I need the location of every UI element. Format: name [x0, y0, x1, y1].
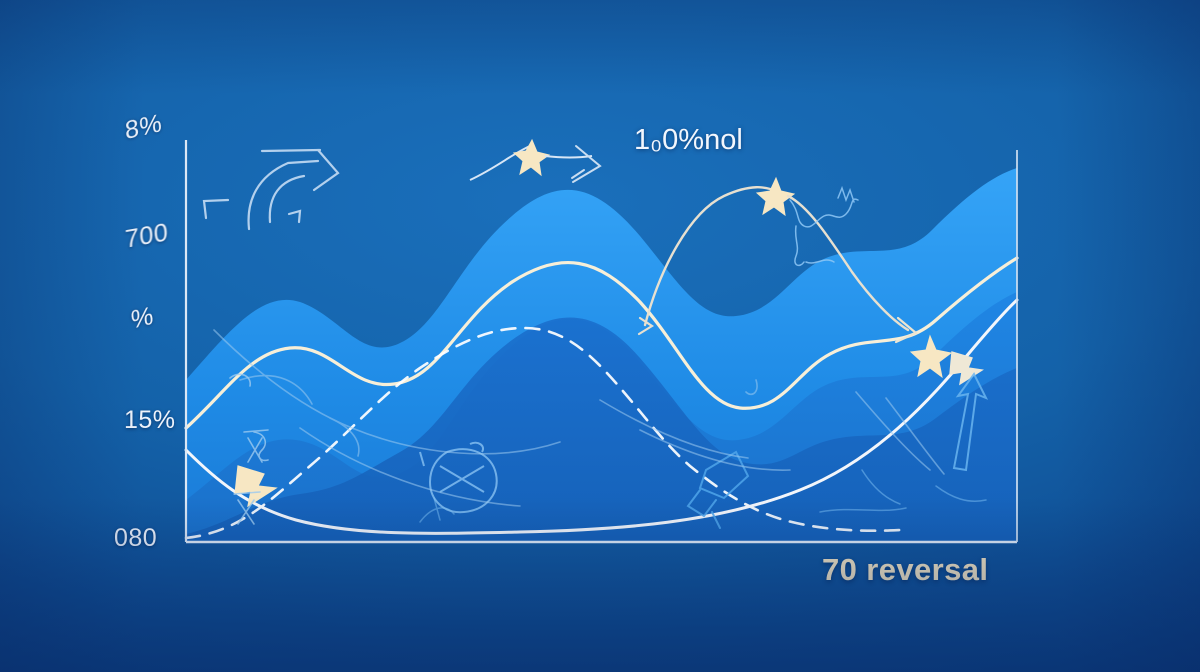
y-tick-label-3: 15%: [124, 406, 176, 435]
annotation-top-center: 1₀0%nol: [634, 124, 743, 157]
y-tick-label-4: 080: [114, 524, 157, 553]
chart-canvas: 8% 700 % 15% 080 1₀0%nol 70 reversal: [0, 0, 1200, 672]
y-tick-label-2: %: [130, 302, 155, 336]
axis-layer: [0, 0, 1200, 672]
annotation-bottom-right: 70 reversal: [822, 552, 988, 588]
